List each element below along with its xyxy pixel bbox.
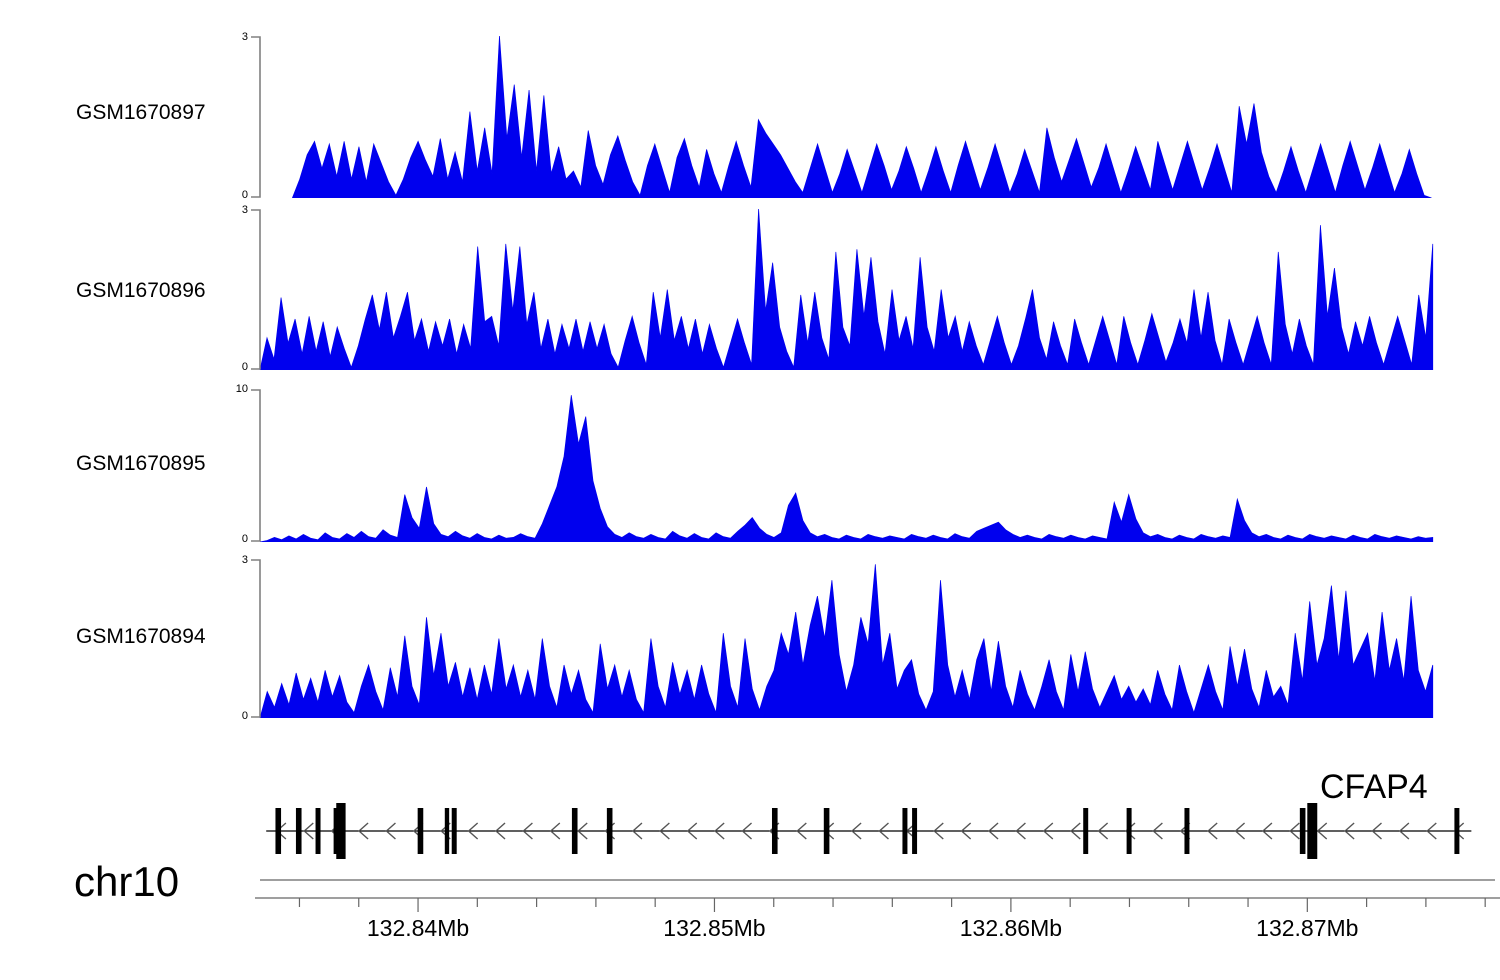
track-label-gsm1670897: GSM1670897 xyxy=(76,101,206,125)
track-2-axis-min: 0 xyxy=(232,361,248,373)
track-3-axis-min: 0 xyxy=(232,533,248,545)
genome-axis xyxy=(255,878,1500,914)
track-4-axis-max: 3 xyxy=(232,554,248,566)
track-1-axis-max: 3 xyxy=(232,31,248,43)
genome-browser-view: GSM1670897 3 0 GSM1670896 3 0 GSM1670895… xyxy=(0,0,1500,980)
track-4-y-axis-bracket xyxy=(250,559,262,718)
axis-tick-label: 132.85Mb xyxy=(663,915,765,942)
track-4-axis-min: 0 xyxy=(232,710,248,722)
track-2-y-axis-bracket xyxy=(250,209,262,370)
track-1-y-axis-bracket xyxy=(250,36,262,198)
coverage-track-gsm1670894 xyxy=(255,559,1500,718)
chromosome-label: chr10 xyxy=(74,858,179,906)
track-3-y-axis-bracket xyxy=(250,389,262,542)
track-label-gsm1670896: GSM1670896 xyxy=(76,279,206,303)
coverage-track-gsm1670896 xyxy=(255,209,1500,370)
coverage-track-gsm1670895 xyxy=(255,389,1500,542)
gene-model-track[interactable] xyxy=(255,800,1500,862)
coverage-track-gsm1670897 xyxy=(255,36,1500,198)
track-label-gsm1670895: GSM1670895 xyxy=(76,452,206,476)
axis-tick-label: 132.84Mb xyxy=(367,915,469,942)
track-label-gsm1670894: GSM1670894 xyxy=(76,625,206,649)
axis-tick-label: 132.87Mb xyxy=(1256,915,1358,942)
track-2-axis-max: 3 xyxy=(232,204,248,216)
track-1-axis-min: 0 xyxy=(232,189,248,201)
axis-tick-label: 132.86Mb xyxy=(960,915,1062,942)
track-3-axis-max: 10 xyxy=(224,383,248,395)
